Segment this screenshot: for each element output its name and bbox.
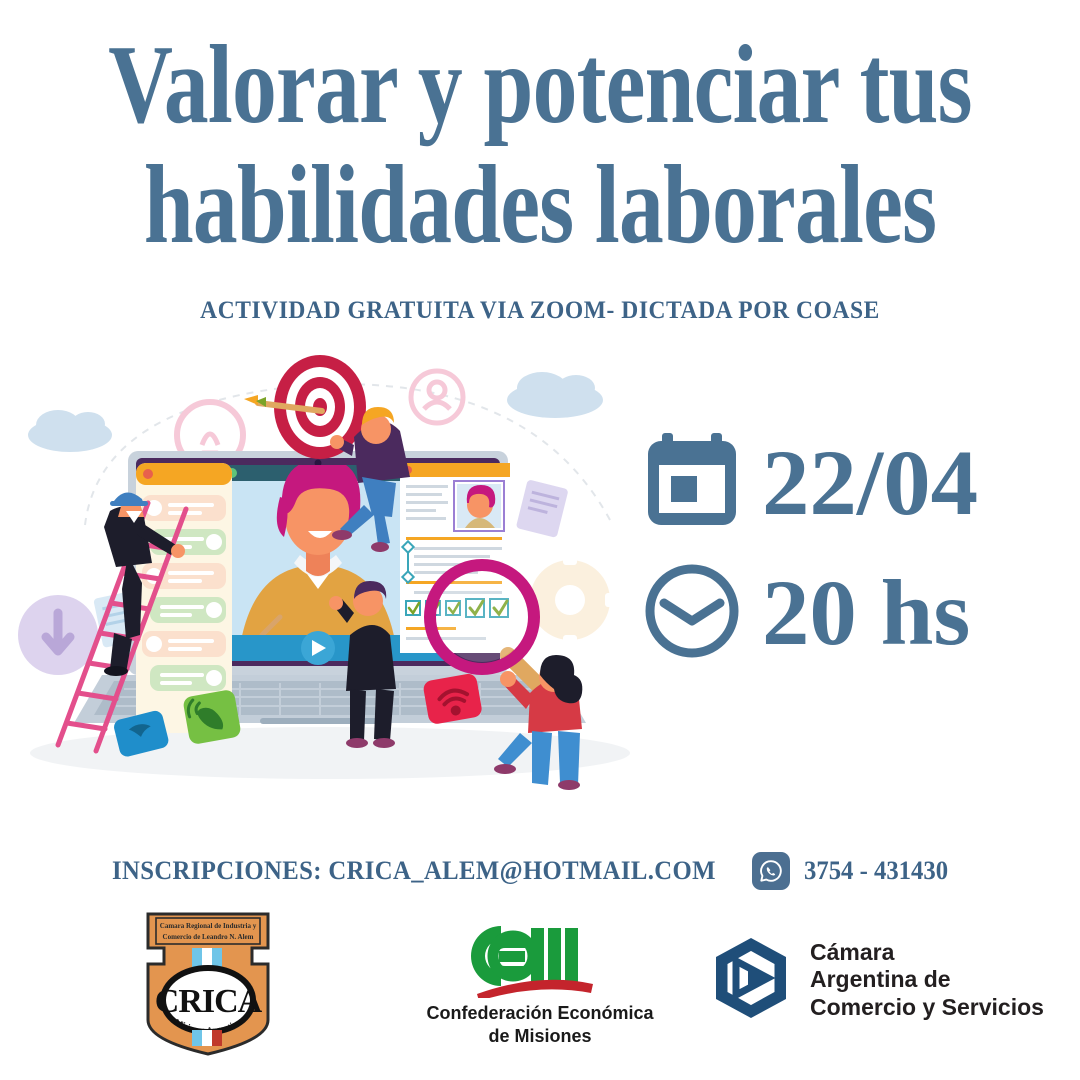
event-time-row: 20 hs [640, 548, 1070, 678]
online-video-interview-illustration [10, 345, 650, 795]
gear-icon-inner [555, 585, 585, 615]
camara-argentina-logo: Cámara Argentina de Comercio y Servicios [708, 930, 1068, 1030]
resume-photo [454, 481, 504, 531]
headline-line-1: Valorar y potenciar tus [108, 23, 972, 147]
cem-logo: Confederación Económica de Misiones [410, 918, 670, 1058]
crica-top-text-1: Camara Regional de Industria y [160, 922, 257, 930]
camara-caption-line-3: Comercio y Servicios [810, 994, 1044, 1021]
clock-icon [640, 559, 744, 668]
cem-caption-line-1: Confederación Económica [410, 1002, 670, 1025]
app-tile-phone [182, 689, 242, 745]
trackpad [260, 718, 390, 724]
whatsapp-icon[interactable] [752, 852, 790, 890]
headline-line-2: habilidades laborales [108, 148, 972, 262]
calendar-icon [640, 429, 744, 538]
camara-hex-icon [708, 935, 794, 1026]
play-button [301, 631, 335, 665]
cem-caption-line-2: de Misiones [410, 1025, 670, 1048]
crica-top-text-2: Comercio de Leandro N. Alem [163, 933, 254, 941]
person-badge-icon [411, 371, 463, 423]
app-tile-wifi [422, 673, 483, 726]
whatsapp-number[interactable]: 3754 - 431430 [804, 856, 948, 886]
crica-monogram: CRICA [155, 983, 263, 1020]
cloud-icon [28, 410, 112, 452]
camara-caption-line-2: Argentina de [810, 966, 1044, 993]
event-details: 22/04 20 hs [640, 418, 1070, 678]
event-date: 22/04 [762, 437, 978, 530]
cem-caption: Confederación Económica de Misiones [410, 1002, 670, 1049]
cloud-icon [507, 372, 603, 418]
event-date-row: 22/04 [640, 418, 1070, 548]
inscriptions-text[interactable]: INSCRIPCIONES: CRICA_ALEM@HOTMAIL.COM [112, 856, 716, 886]
argentina-flag-bottom [192, 1030, 222, 1046]
crica-logo: Camara Regional de Industria y Comercio … [128, 908, 288, 1058]
subtitle: ACTIVIDAD GRATUITA VIA ZOOM- DICTADA POR… [32, 297, 1047, 325]
poster-canvas: Valorar y potenciar tus habilidades labo… [0, 0, 1080, 1080]
chat-close-dot [143, 469, 153, 479]
camara-caption: Cámara Argentina de Comercio y Servicios [810, 939, 1044, 1020]
contact-row: INSCRIPCIONES: CRICA_ALEM@HOTMAIL.COM 37… [0, 852, 1080, 896]
whatsapp-contact[interactable]: 3754 - 431430 [752, 852, 956, 890]
document-icon [516, 479, 569, 538]
sponsor-logos: Camara Regional de Industria y Comercio … [0, 900, 1080, 1080]
camara-caption-line-1: Cámara [810, 939, 1044, 966]
event-time: 20 hs [762, 567, 970, 660]
page-title: Valorar y potenciar tus habilidades labo… [108, 28, 972, 262]
